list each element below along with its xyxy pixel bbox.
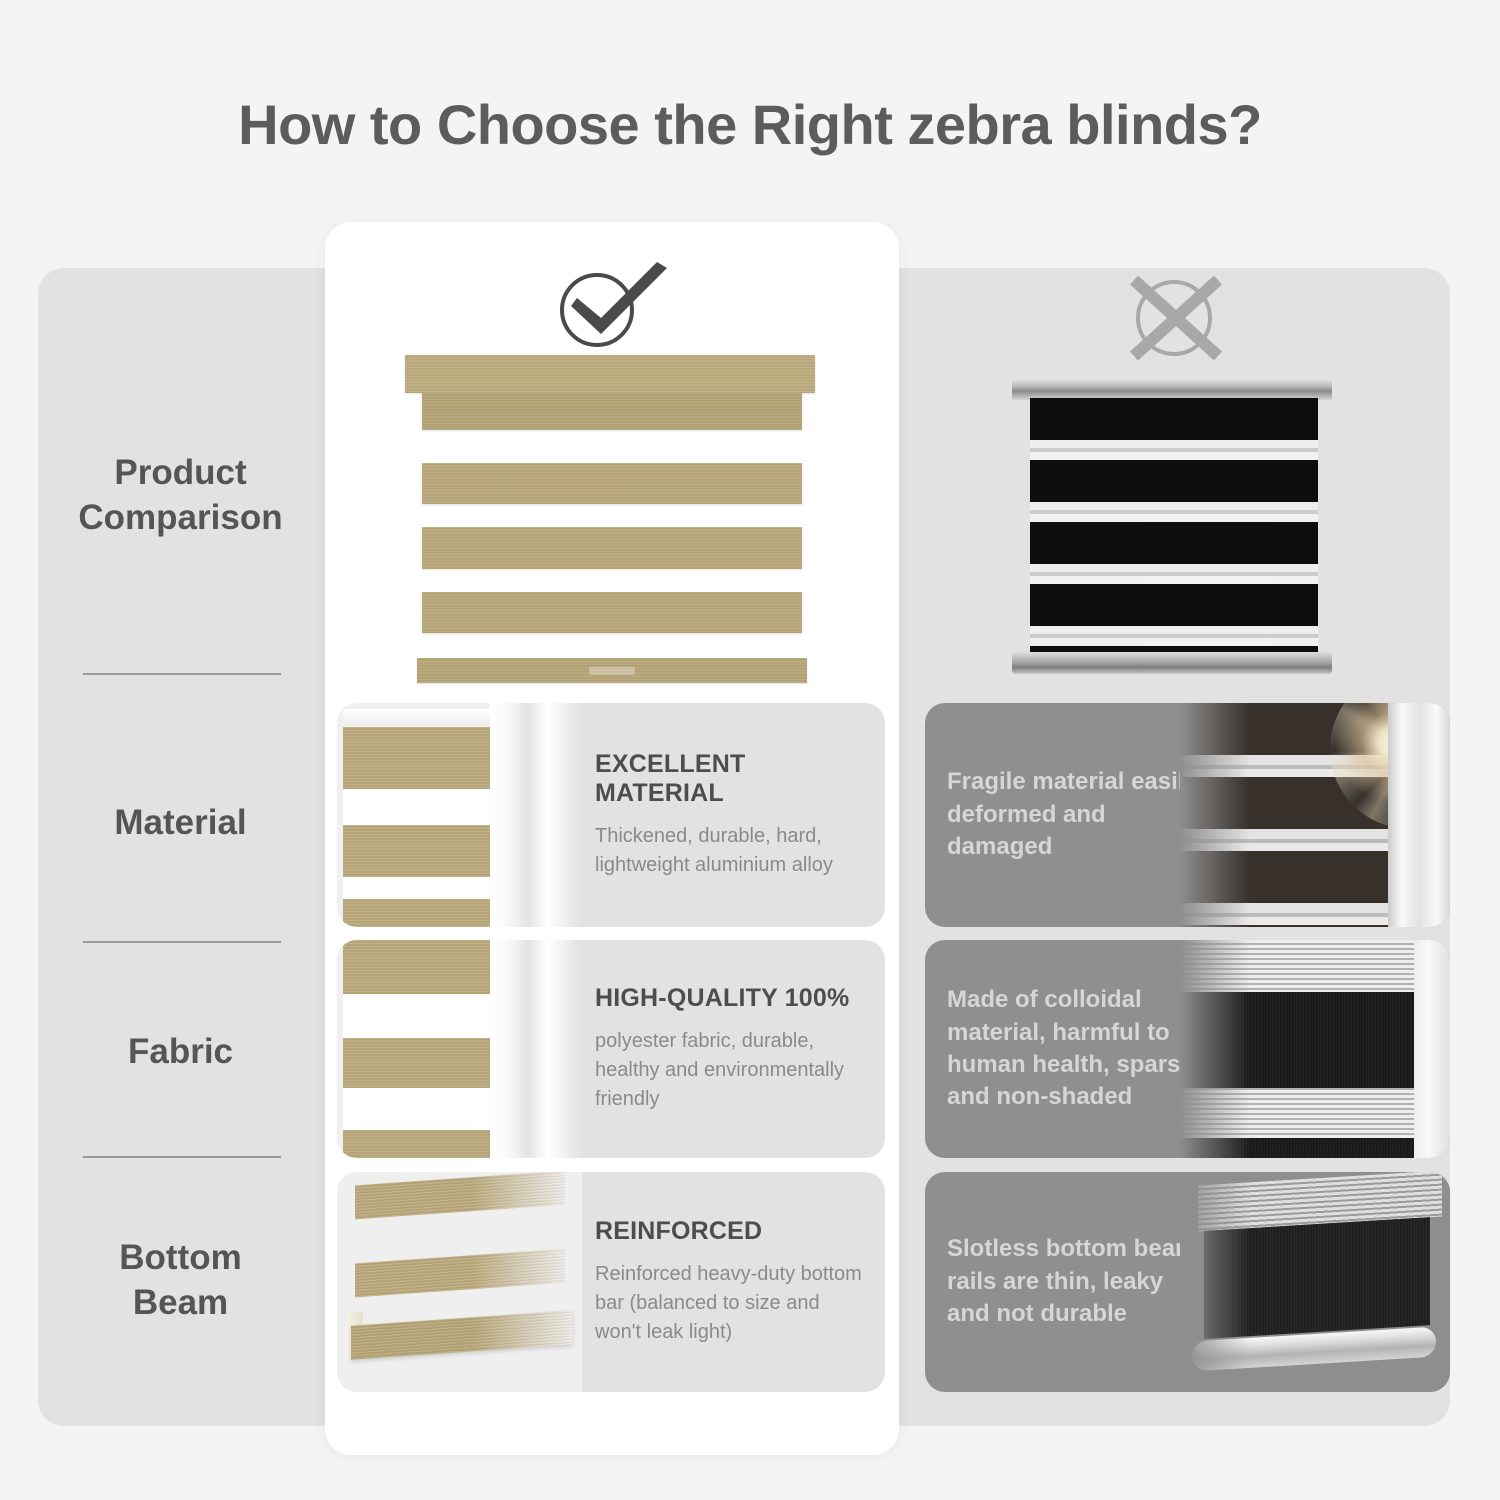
reinforced-bottom-beam [351,1310,573,1360]
good-feature-photo [337,703,582,927]
bad-feature-material: Fragile material easily deformed and dam… [925,703,1450,927]
blind-bottom-rail [417,658,807,683]
good-feature-title: REINFORCED [595,1217,867,1246]
row-divider [83,1156,281,1158]
good-feature-photo [337,940,582,1158]
light-leak-photo [1180,703,1450,927]
blind-fabric-band [1204,1217,1430,1339]
slotless-bottom-rail-photo [1180,1172,1450,1392]
blind-fabric-band [1180,1138,1416,1158]
blind-valance-body [422,393,802,430]
blind-fabric-band [343,940,494,994]
blind-slat [355,1249,565,1298]
check-circle-icon [545,262,675,352]
window-frame [1414,940,1450,1158]
blind-slat [422,592,802,633]
blind-fabric-band [343,727,494,789]
blind-fabric-photo [337,940,582,1158]
good-feature-text: EXCELLENT MATERIAL Thickened, durable, h… [595,703,867,927]
good-feature-material: EXCELLENT MATERIAL Thickened, durable, h… [337,703,885,927]
good-feature-title: EXCELLENT MATERIAL [595,750,867,808]
row-label-line-1: Product [38,451,323,496]
bad-feature-text: Slotless bottom beam rails are thin, lea… [947,1172,1207,1392]
x-circle-icon [1122,272,1227,364]
blind-slat [422,463,802,504]
good-feature-text: HIGH-QUALITY 100% polyester fabric, dura… [595,940,867,1158]
row-divider [83,941,281,943]
window-frame [490,940,582,1158]
page-title: How to Choose the Right zebra blinds? [0,92,1500,157]
good-feature-fabric: HIGH-QUALITY 100% polyester fabric, dura… [337,940,885,1158]
sheer-fabric-photo [1180,940,1450,1158]
row-label-fabric: Fabric [38,1030,323,1075]
blind-fabric-band [343,1130,494,1158]
blind-valance-top [405,355,815,393]
row-label-column: Product Comparison Material Fabric Botto… [38,268,323,1426]
slotless-bottom-rail [1192,1327,1436,1372]
row-label-line-2: Beam [38,1281,323,1326]
bad-feature-photo [1180,940,1450,1158]
good-feature-bottom-beam: REINFORCED Reinforced heavy-duty bottom … [337,1172,885,1392]
blind-zebra-fabric [1030,398,1318,654]
row-divider [83,673,281,675]
bad-feature-text: Made of colloidal material, harmful to h… [947,940,1207,1158]
blind-headrail [1012,378,1332,400]
blind-fabric-band [1180,992,1416,1088]
blind-slat [355,1172,565,1219]
row-label-line-1: Bottom [38,1236,323,1281]
good-hero-blind-image [405,355,815,700]
good-feature-body: Thickened, durable, hard, lightweight al… [595,822,867,880]
row-label-product-comparison: Product Comparison [38,451,323,541]
blind-fabric-band [343,1038,494,1088]
blind-sheer-band [343,877,494,899]
bottom-beam-photo [337,1172,582,1392]
blind-fabric-band [343,899,494,927]
good-feature-text: REINFORCED Reinforced heavy-duty bottom … [595,1172,867,1392]
window-frame [490,703,582,927]
blind-material-photo [337,703,582,927]
good-feature-body: Reinforced heavy-duty bottom bar (balanc… [595,1260,867,1347]
bad-feature-fabric: Made of colloidal material, harmful to h… [925,940,1450,1158]
row-label-line-1: Fabric [38,1030,323,1075]
blind-headrail [343,709,494,725]
row-label-material: Material [38,801,323,846]
good-feature-title: HIGH-QUALITY 100% [595,984,867,1013]
blind-sheer-band [343,1088,494,1130]
bad-feature-photo [1180,1172,1450,1392]
blind-sheer-band [343,789,494,825]
blind-fabric-band [343,825,494,877]
row-label-line-2: Comparison [38,496,323,541]
blind-slat [422,527,802,569]
bad-feature-photo [1180,703,1450,927]
bad-feature-bottom-beam: Slotless bottom beam rails are thin, lea… [925,1172,1450,1392]
bad-hero-blind-image [1012,378,1332,674]
good-feature-photo [337,1172,582,1392]
good-feature-body: polyester fabric, durable, healthy and e… [595,1027,867,1114]
row-label-line-1: Material [38,801,323,846]
row-label-bottom-beam: Bottom Beam [38,1236,323,1326]
window-frame [1388,703,1450,927]
blind-bottom-rail [1012,652,1332,674]
bad-feature-text: Fragile material easily deformed and dam… [947,703,1207,927]
blind-sheer-band [343,994,494,1038]
